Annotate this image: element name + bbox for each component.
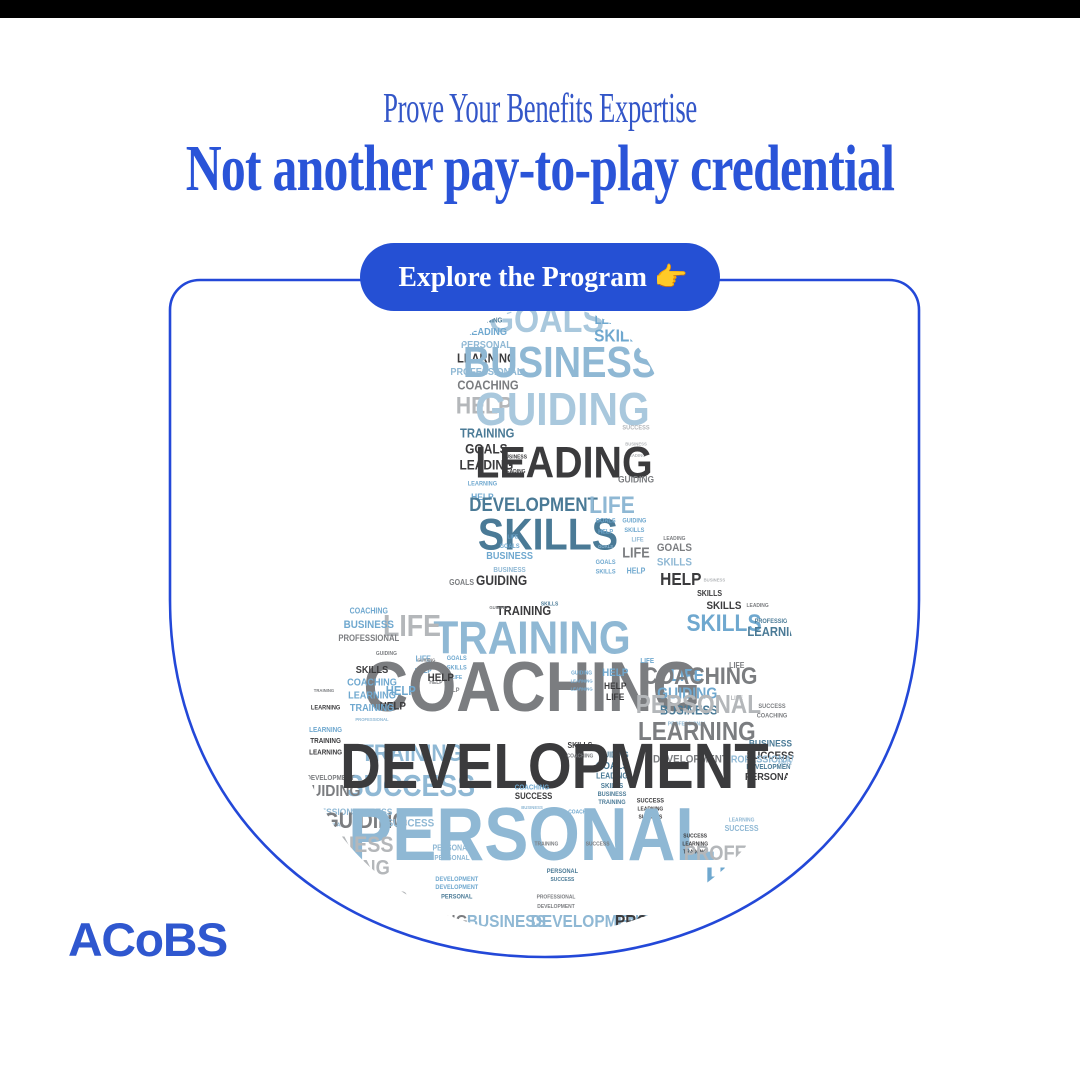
cloud-word: GUIDING	[571, 670, 592, 676]
cloud-word: GUIDING	[489, 605, 508, 610]
cloud-word: COACHING	[567, 753, 594, 759]
cloud-word: PERSONAL	[348, 793, 716, 877]
cloud-word: PERSONAL	[432, 843, 471, 853]
cloud-word: HELP	[660, 569, 701, 589]
cloud-word: SKILLS	[697, 589, 722, 599]
cloud-word: COACHING	[515, 784, 549, 791]
cloud-word: PERSONAL	[298, 893, 337, 903]
cloud-word: DEVELOPMENT	[435, 885, 478, 891]
cloud-word: PERSONAL	[441, 894, 473, 900]
cloud-word: LEADING	[503, 469, 525, 475]
cloud-word: COACHING	[290, 856, 390, 879]
cloud-word: SUCCESS	[725, 824, 759, 834]
cloud-word: BUSINESS	[344, 618, 394, 631]
cloud-word: GOALS	[500, 544, 520, 550]
cloud-word: HELP	[428, 671, 454, 684]
cloud-word: PROFESSIONAL	[355, 717, 389, 722]
cloud-word: COACHING	[643, 663, 758, 690]
cloud-word: LEADING	[701, 899, 809, 929]
cloud-word: LEARNING	[309, 727, 342, 734]
cloud-word: GOALS	[657, 542, 692, 555]
cloud-word: HELP	[598, 529, 613, 535]
cloud-word: TRAINING	[314, 688, 335, 693]
cloud-word: DEVELOPMENT	[537, 904, 575, 910]
cloud-word: PROFESSIONAL	[338, 633, 399, 643]
cloud-word: LEARNING	[729, 817, 755, 823]
cloud-word: PROFESSIONAL	[537, 894, 577, 900]
cloud-word: COACHING	[347, 677, 397, 689]
top-black-bar	[0, 0, 1080, 18]
cloud-word: SKILLS	[596, 569, 616, 575]
cloud-word: DEVELOPMENT	[342, 922, 391, 929]
cloud-word: TRAINING	[310, 738, 341, 745]
cloud-word: HELP	[705, 860, 784, 898]
cloud-word: GUIDING	[417, 657, 436, 662]
cloud-word: GUIDING	[476, 572, 527, 588]
cloud-word: LEARNING	[348, 690, 396, 702]
cloud-word: LIFE	[622, 545, 649, 561]
cloud-word: LEADING	[466, 327, 507, 339]
acobs-logo: ACoBS	[68, 912, 227, 967]
cloud-word: HELP	[602, 666, 628, 679]
cloud-word: SKILLS	[356, 664, 389, 676]
explore-program-label: Explore the Program	[399, 261, 647, 294]
cloud-word: PROFESSIONAL	[615, 911, 737, 931]
eyebrow-text: Prove Your Benefits Expertise	[197, 88, 883, 130]
cloud-word: LEADING	[398, 911, 468, 931]
cloud-word: LEARNING	[309, 749, 342, 756]
cloud-word: GOALS	[596, 518, 616, 524]
cloud-word: SUCCESS	[758, 704, 785, 710]
cloud-word: SUCCESS	[683, 833, 707, 839]
cloud-word: LEARNING	[747, 624, 806, 639]
cloud-word: SUCCESS	[778, 760, 798, 765]
cloud-word: HELP	[627, 566, 646, 576]
pointing-right-hand-icon: 👉	[654, 264, 688, 291]
cloud-word: DEVELOPMENT	[769, 891, 818, 898]
cloud-word: LIFE	[632, 537, 644, 543]
cloud-word: PERSONAL	[434, 855, 469, 862]
cloud-word: DEVELOPMENT	[435, 877, 478, 883]
cloud-word: GOALS	[598, 544, 613, 549]
cloud-word: SUCCESS	[352, 807, 393, 818]
cloud-word: LEARNING	[571, 678, 593, 683]
cloud-word: GOALS	[333, 887, 408, 914]
cloud-word: TRAINING	[472, 317, 503, 324]
cloud-word: LEARNING	[311, 705, 341, 711]
page-title: Not another pay-to-play credential	[133, 136, 946, 202]
poster-canvas: GOALSLEADINGSKILLSCOACHINGTRAININGLEADIN…	[0, 0, 1080, 1080]
cloud-word: COACHING	[757, 713, 788, 719]
cloud-word: BUSINESS	[704, 577, 726, 582]
word-cloud: GOALSLEADINGSKILLSCOACHINGTRAININGLEADIN…	[228, 300, 868, 940]
cloud-word: SKILLS	[624, 528, 644, 534]
cloud-word: SKILLS	[568, 741, 593, 751]
cloud-word: GUIDING	[618, 474, 654, 485]
cloud-word: SUCCESS	[586, 841, 610, 847]
cloud-word: COACHING	[350, 606, 388, 616]
cloud-word: TRAINING	[535, 841, 559, 847]
cloud-word: BUSINESS	[486, 551, 533, 563]
word-cloud-svg: GOALSLEADINGSKILLSCOACHINGTRAININGLEADIN…	[228, 300, 868, 940]
cloud-word: PERSONAL	[305, 833, 337, 839]
cloud-word: GOALS	[712, 911, 767, 931]
cloud-word: PERSONAL	[547, 869, 579, 875]
cloud-word: LIFE	[507, 534, 518, 540]
cloud-word: GUIDING	[622, 518, 646, 524]
cloud-word: GOALS	[449, 577, 474, 587]
cloud-word: GOALS	[596, 560, 616, 566]
cloud-word: SKILLS	[657, 556, 692, 569]
cloud-word: TRAINING	[350, 703, 394, 715]
cloud-word: PERSONAL	[636, 691, 761, 720]
explore-program-button[interactable]: Explore the Program 👉	[360, 243, 720, 311]
cloud-word: HELP	[604, 680, 627, 691]
cloud-word: SUCCESS	[551, 877, 575, 883]
cloud-word: BUSINESS	[463, 338, 657, 387]
cloud-word: SKILLS	[541, 601, 559, 607]
cloud-word: BUSINESS	[502, 454, 528, 460]
cloud-word: LEARNING	[571, 686, 593, 691]
cloud-word: LIFE	[606, 692, 624, 703]
cloud-word: LEADING	[747, 603, 769, 609]
cloud-word: DEVELOPMENT	[340, 730, 769, 802]
cloud-word: SUCCESS	[622, 425, 649, 431]
cloud-word: BUSINESS	[293, 833, 394, 857]
